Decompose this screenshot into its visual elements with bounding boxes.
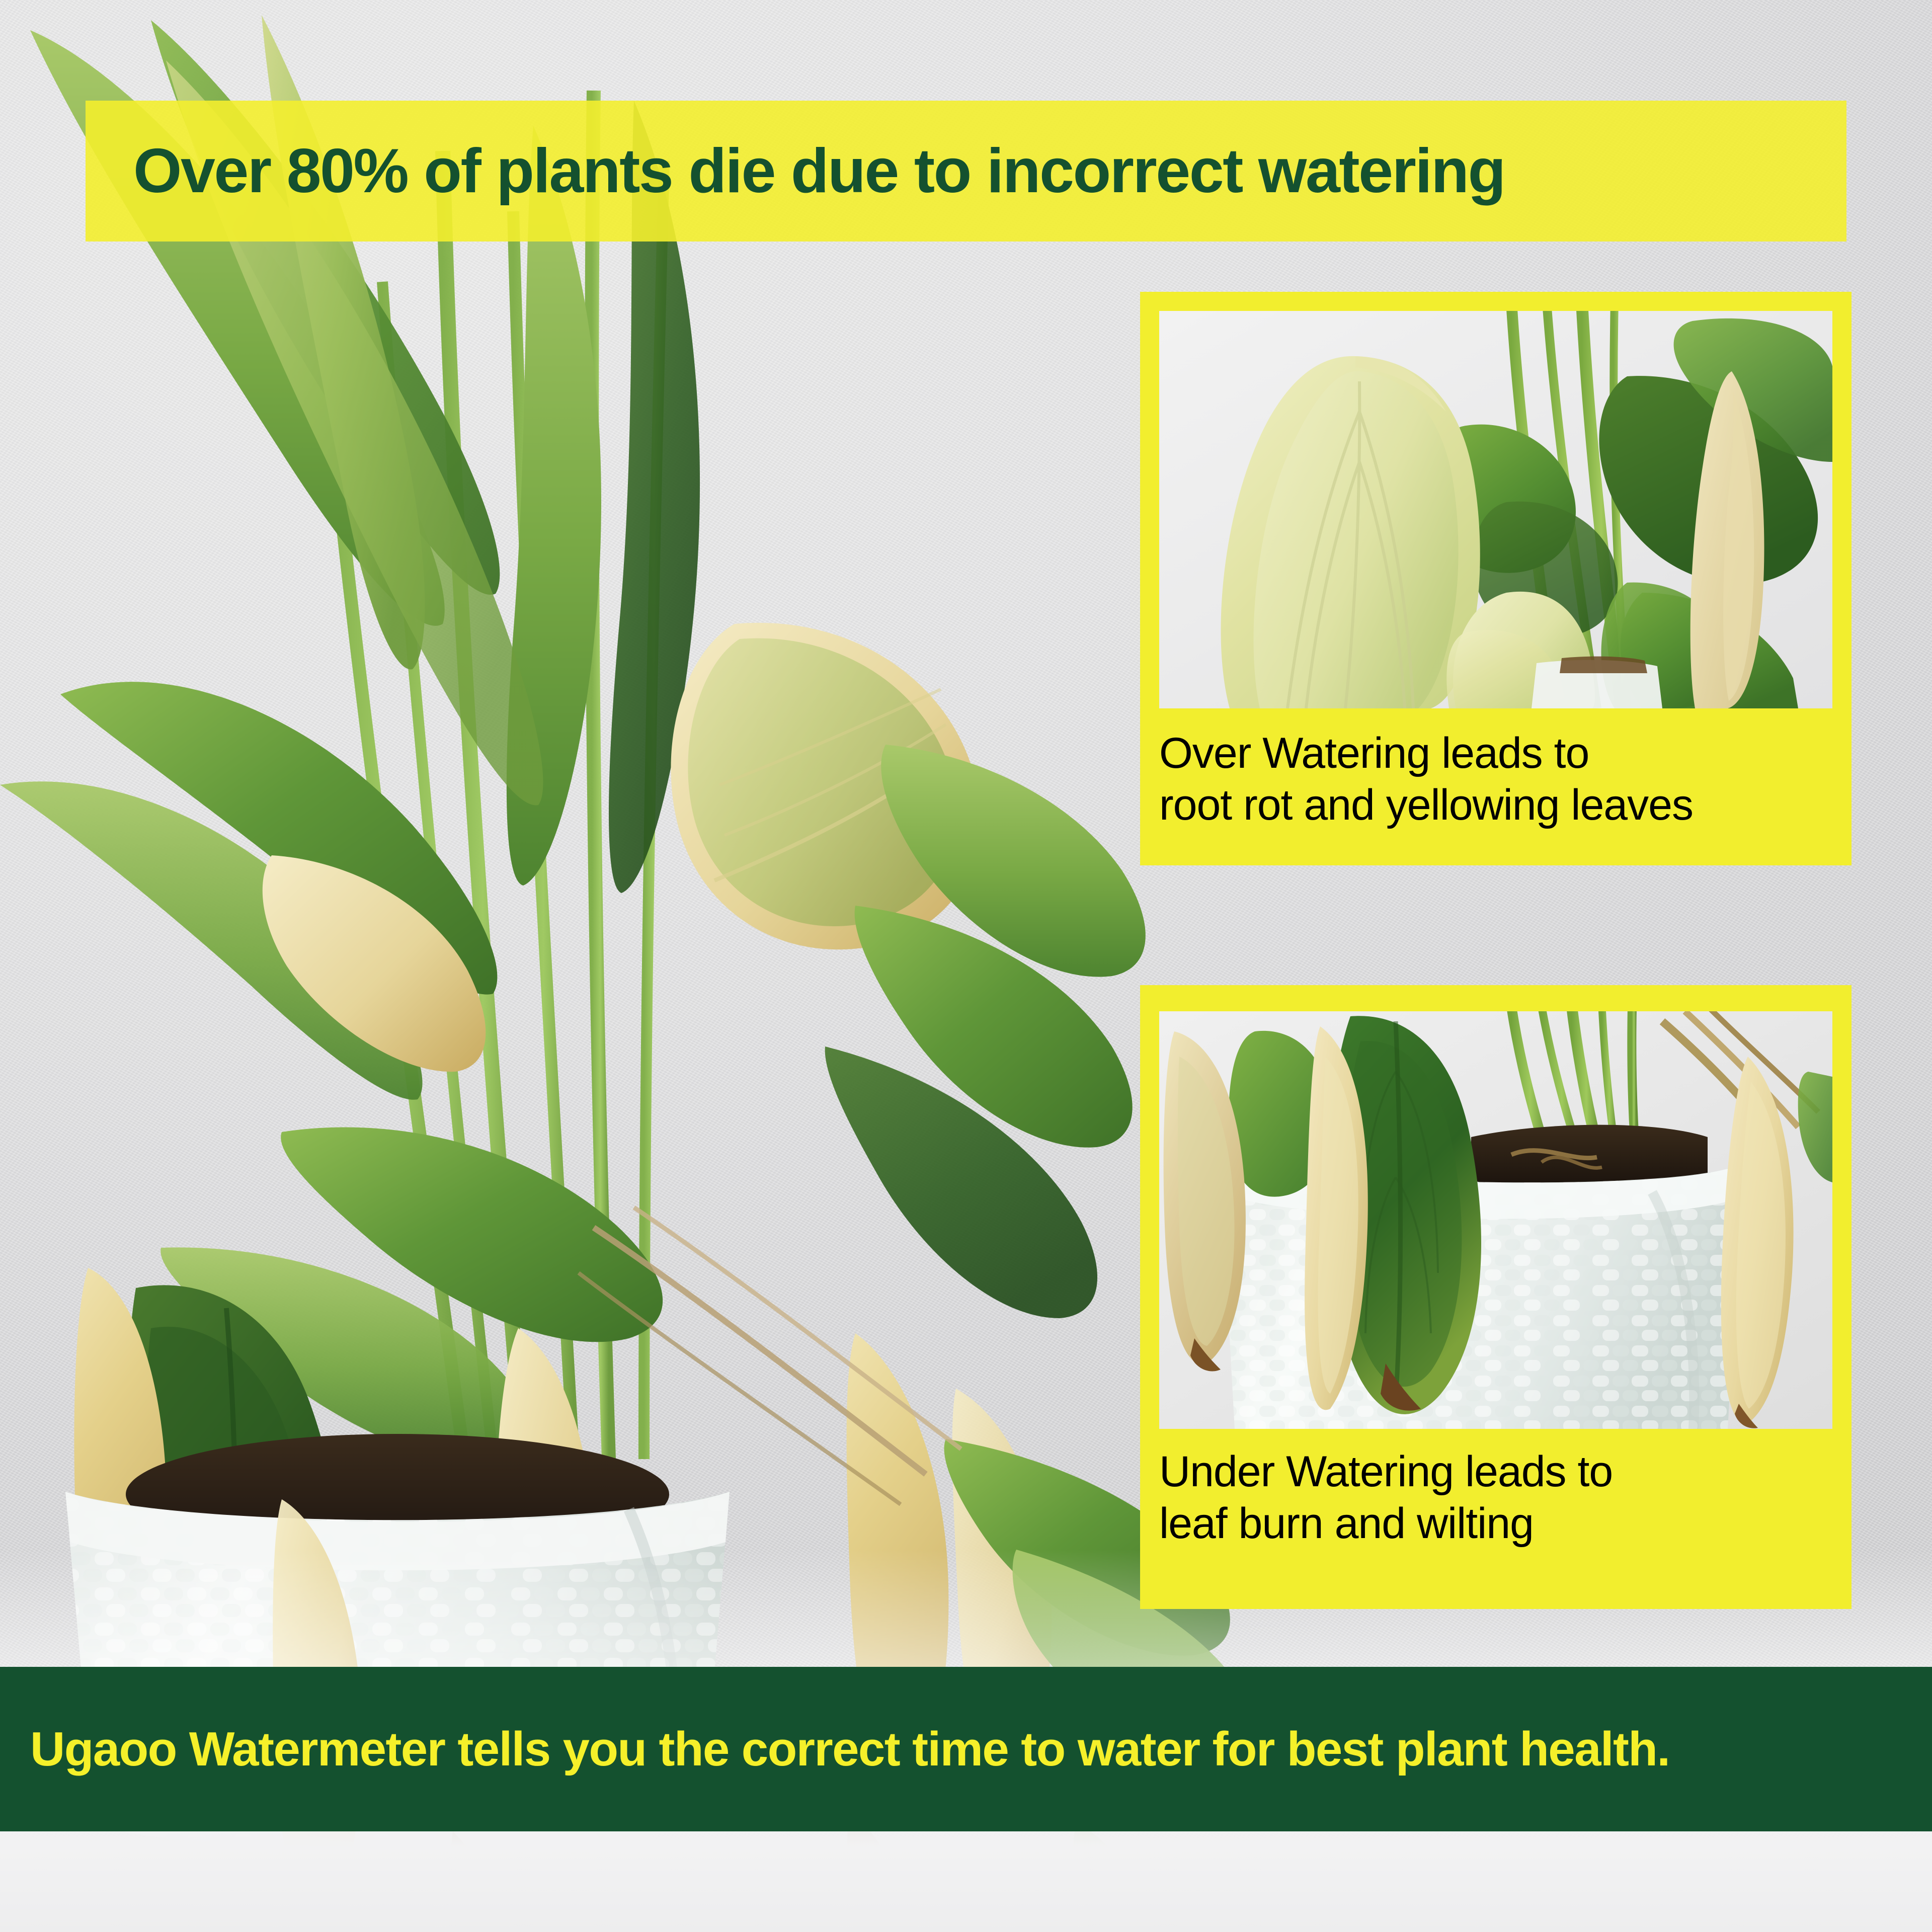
bottom-banner-text: Ugaoo Watermeter tells you the correct t… [30, 1725, 1669, 1774]
headline-banner: Over 80% of plants die due to incorrect … [86, 101, 1846, 242]
poster-canvas: Over 80% of plants die due to incorrect … [0, 0, 1932, 1932]
over-watering-caption: Over Watering leads to root rot and yell… [1159, 728, 1852, 831]
bottom-banner: Ugaoo Watermeter tells you the correct t… [0, 1667, 1932, 1831]
under-watering-card: Under Watering leads to leaf burn and wi… [1140, 985, 1852, 1609]
over-watering-card: Over Watering leads to root rot and yell… [1140, 292, 1852, 865]
page-title: Over 80% of plants die due to incorrect … [133, 140, 1505, 202]
under-watering-caption: Under Watering leads to leaf burn and wi… [1159, 1446, 1852, 1550]
under-watering-photo [1159, 1011, 1832, 1429]
over-watering-photo [1159, 311, 1832, 708]
